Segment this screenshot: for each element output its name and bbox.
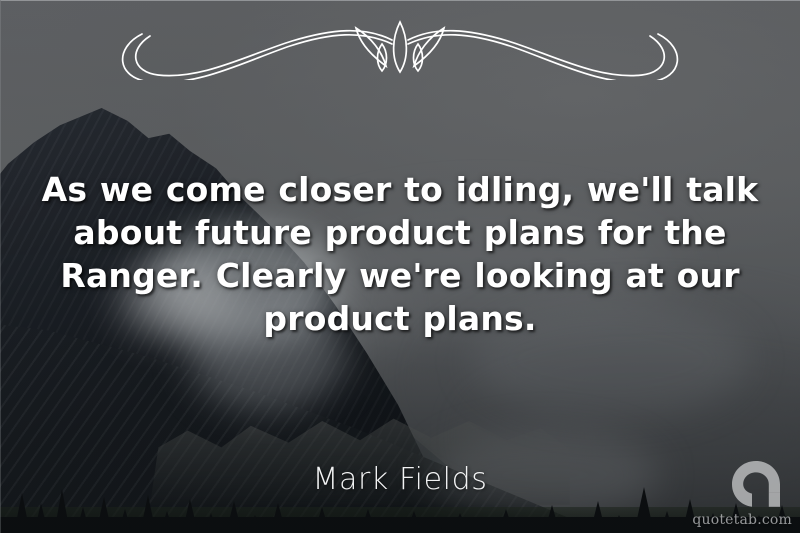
quote-author: Mark Fields bbox=[0, 462, 800, 497]
watermark-site-label: quotetab.com bbox=[692, 512, 792, 528]
watermark[interactable]: quotetab.com bbox=[698, 459, 794, 529]
quote-image-card: As we come closer to idling, we'll talk … bbox=[0, 0, 800, 533]
quote-text: As we come closer to idling, we'll talk … bbox=[32, 168, 768, 340]
flourish-divider-ornament bbox=[80, 14, 720, 80]
quotetab-q-logo-icon bbox=[730, 459, 788, 511]
card-content: As we come closer to idling, we'll talk … bbox=[0, 0, 800, 533]
